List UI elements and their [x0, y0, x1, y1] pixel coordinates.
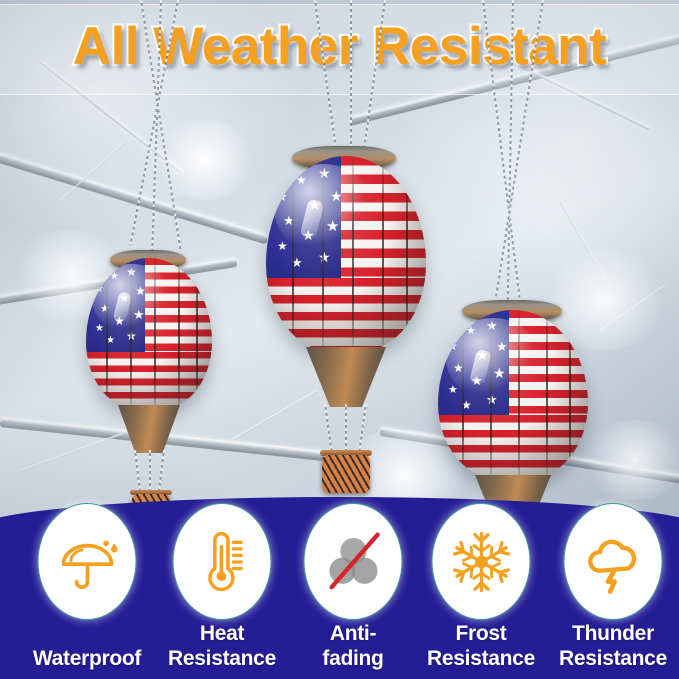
feature-frost-resistance[interactable]: Frost Resistance [422, 493, 540, 679]
feature-label-line1: Frost [455, 622, 506, 645]
thermometer-icon [187, 527, 257, 597]
balloon-cone [306, 347, 386, 407]
balloon-lantern-left: ★ ★ ★ ★ ★ ★ ★ ★ ★ ★ ★ [62, 0, 242, 520]
feature-label: Heat Resistance [147, 621, 297, 671]
feature-label-line2: Resistance [168, 647, 276, 670]
feature-waterproof[interactable]: Waterproof [28, 493, 146, 679]
feature-heat-resistance[interactable]: Heat Resistance [163, 493, 281, 679]
feature-label-line1: Anti- [330, 622, 376, 645]
feature-anti-fading[interactable]: Anti- fading [294, 493, 412, 679]
feature-bubble [38, 503, 137, 620]
feature-bubble [173, 503, 272, 620]
cloud-lightning-icon [578, 527, 648, 597]
feature-label-line1: Thunder [572, 622, 654, 645]
feature-label: Waterproof [12, 646, 162, 671]
feature-bubble [432, 503, 531, 620]
balloon-lantern-right: ★ ★ ★ ★ ★ ★ ★ ★ ★ ★ ★ [430, 0, 610, 560]
feature-label-line1: Heat [200, 622, 244, 645]
balloon-lantern-center: ★ ★ ★ ★ ★ ★ ★ ★ ★ ★ ★ [262, 0, 452, 470]
balloon-cone [118, 405, 180, 453]
product-feature-image: All Weather Resistant ★ ★ ★ ★ ★ ★ ★ ★ ★ … [0, 0, 679, 679]
feature-bubble [304, 503, 403, 620]
feature-label-line1: Waterproof [33, 647, 141, 670]
feature-label-line2: Resistance [427, 647, 535, 670]
balloon-envelope: ★ ★ ★ ★ ★ ★ ★ ★ ★ ★ ★ [86, 258, 212, 410]
balloon-envelope: ★ ★ ★ ★ ★ ★ ★ ★ ★ ★ ★ [266, 156, 426, 352]
feature-label: Frost Resistance [406, 621, 556, 671]
feature-label-line2: fading [322, 647, 383, 670]
feature-label-line2: Resistance [559, 647, 667, 670]
feature-thunder-resistance[interactable]: Thunder Resistance [554, 493, 672, 679]
feature-panel: Waterproof [0, 479, 679, 679]
no-fading-icon [318, 527, 388, 597]
feature-label: Thunder Resistance [538, 621, 679, 671]
umbrella-rain-icon [52, 527, 122, 597]
snowflake-icon [446, 527, 516, 597]
feature-bubble [564, 503, 663, 620]
balloon-envelope: ★ ★ ★ ★ ★ ★ ★ ★ ★ ★ ★ [438, 310, 588, 480]
